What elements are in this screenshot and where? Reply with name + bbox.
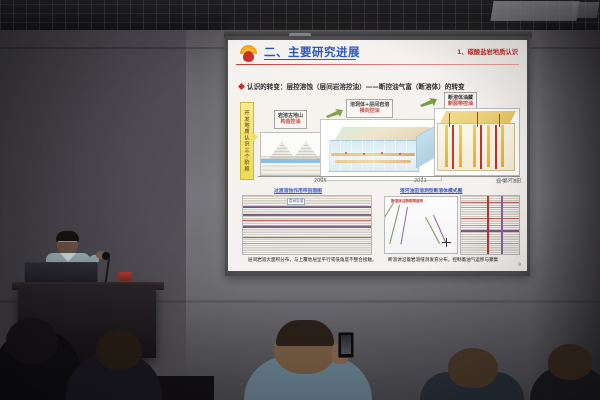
presenter-glasses-icon [58, 241, 77, 246]
timeline-year-2: 2011 [414, 178, 427, 184]
seismic-left-tag: 层间岩溶 [287, 198, 305, 205]
slide-bullet-text: 认识的转变：层控溶蚀（层间岩溶控油）——断控油气富（断溶体）的转变 [247, 81, 465, 91]
stage-3-line2: 断裂带控油 [448, 101, 473, 108]
petrochina-logo-icon [240, 45, 257, 62]
stage-3-illustration [434, 108, 520, 176]
sub-label-1: 过渡溶蚀作用带剖面图 [274, 187, 322, 194]
stage-arrow-1-icon [326, 109, 343, 118]
smartphone[interactable] [338, 332, 354, 358]
stage-arrow-2-icon [420, 98, 437, 107]
slide-section-label: 1、碳酸盐岩地质认识 [457, 47, 518, 56]
audience-member-4-head [448, 348, 498, 388]
slide-bullet-row: 认识的转变：层控溶蚀（层间岩溶控油）——断控油气富（断溶体）的转变 [239, 81, 519, 91]
audience-member-2-head [96, 330, 142, 370]
fault-karst-map-tag: 断溶体沿断裂带展布 [391, 199, 423, 204]
stage-arrow-icon [252, 132, 258, 142]
fault-karst-map-panel: 断溶体沿断裂带展布 [384, 196, 458, 254]
chair-back [156, 376, 214, 400]
red-cup [118, 272, 132, 281]
timeline-axis [258, 176, 520, 177]
audience-member-1-head [6, 318, 58, 364]
audience-member-5-head [548, 344, 592, 380]
header-divider [236, 64, 519, 65]
slide-page-number: 9 [518, 263, 521, 268]
slide-title: 二、主要研究进展 [264, 44, 360, 60]
grid-ceiling [0, 0, 600, 32]
diamond-bullet-icon [238, 82, 245, 89]
slide-corner-label: 塔河油田 [503, 178, 521, 184]
conference-room-scene: 二、主要研究进展 1、碳酸盐岩地质认识 认识的转变：层控溶蚀（层间岩溶控油）——… [0, 0, 600, 400]
slide-header: 二、主要研究进展 1、碳酸盐岩地质认识 [228, 40, 527, 66]
projected-slide: 二、主要研究进展 1、碳酸盐岩地质认识 认识的转变：层控溶蚀（层间岩溶控油）——… [228, 40, 527, 271]
sub-label-2: 塔河油田溶洞型断溶体模式图 [400, 187, 462, 194]
stage-2-line2: 横向控油 [350, 108, 389, 115]
north-cross-icon [442, 238, 451, 247]
ceiling-vent-secondary-icon [571, 2, 600, 18]
stage-2-illustration [320, 119, 442, 181]
panel-caption-right: 断溶体沿着岩溶缝洞发育分布，控制着油气运移与聚集 [388, 257, 498, 263]
smartphone-screen [341, 335, 351, 354]
stage-caption-2: 溶洞体+层间岩溶 横向控油 [346, 99, 393, 118]
stage-vertical-label-text: 开发地质认识三个阶段 [244, 110, 251, 172]
seismic-section-left-panel: 层间岩溶 [242, 195, 372, 255]
panel-caption-left: 层间岩溶大面积分布，与上覆地层呈平行或低角度不整合接触。 [248, 257, 377, 263]
seismic-section-right-panel [460, 195, 520, 255]
stage-caption-1: 岩溶古地山 构造控油 [274, 110, 307, 129]
slide-title-underline [264, 59, 356, 60]
ceiling-vent-icon [490, 1, 579, 21]
stage-1-line2: 构造控油 [278, 119, 303, 126]
timeline-year-1: 2005 [314, 178, 327, 184]
